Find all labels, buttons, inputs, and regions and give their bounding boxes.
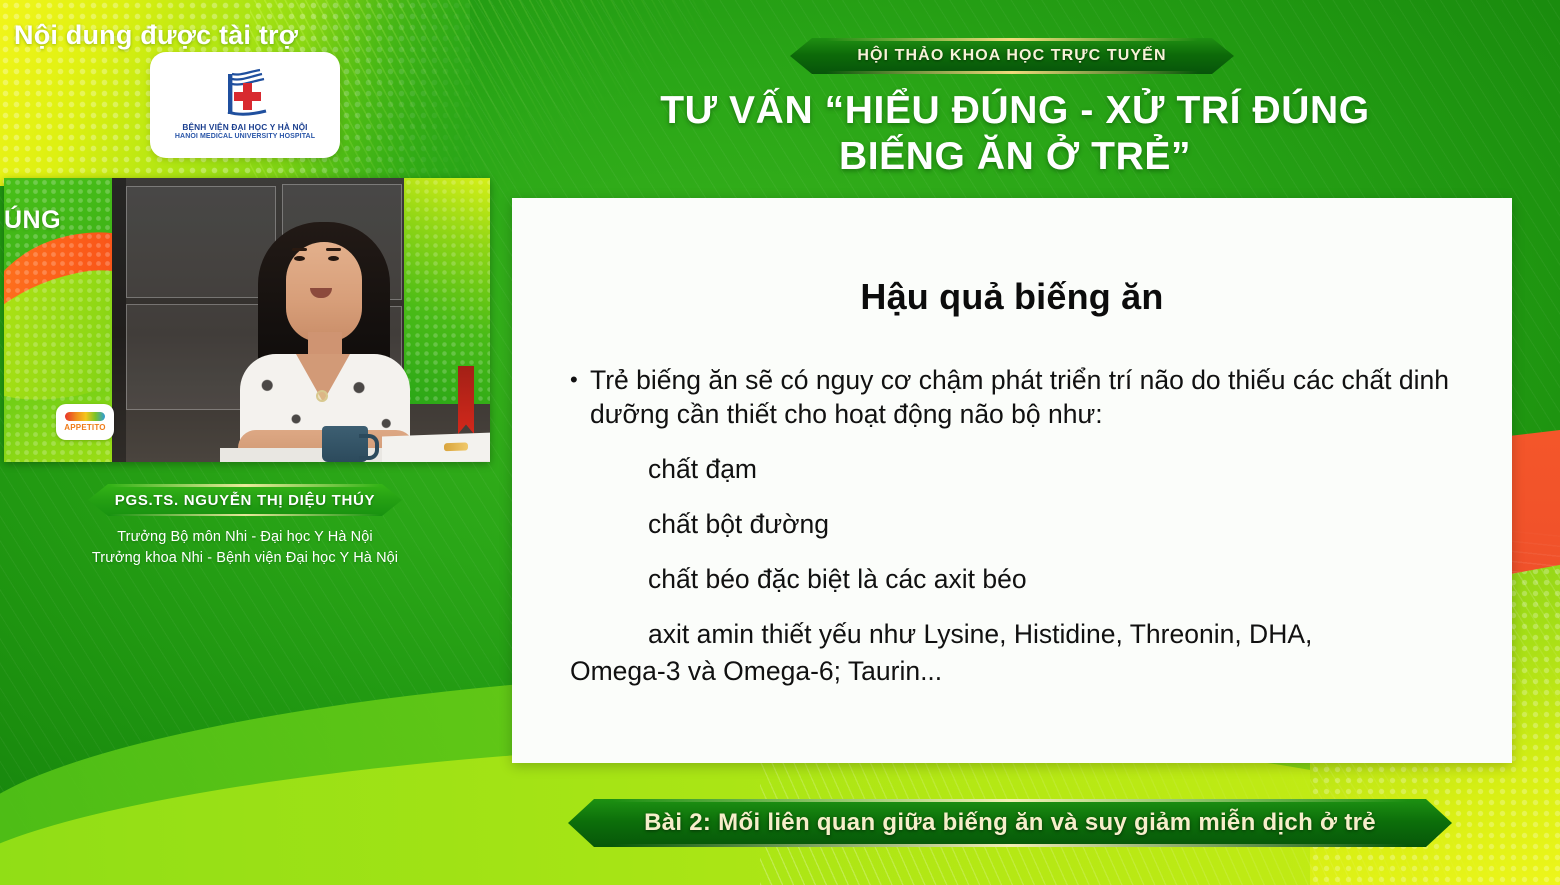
speaker-name: PGS.TS. NGUYỄN THỊ DIỆU THÚY <box>115 492 375 509</box>
name-badge-glow-bottom <box>110 514 380 517</box>
appetito-logo-badge: APPETITO <box>56 404 114 440</box>
lesson-banner: Bài 2: Mối liên quan giữa biếng ăn và su… <box>568 799 1452 847</box>
slide-sub-item: chất đạm <box>570 453 1454 487</box>
desk-paper <box>382 432 490 462</box>
sponsor-label: Nội dung được tài trợ <box>14 20 298 51</box>
page-title: TƯ VẤN “HIỂU ĐÚNG - XỬ TRÍ ĐÚNG BIẾNG ĂN… <box>600 88 1560 180</box>
slide-tail-line: Omega-3 và Omega-6; Taurin... <box>570 655 1454 689</box>
lesson-banner-glow-bottom <box>612 844 1408 847</box>
video-overlay-text: ÚNG <box>4 206 61 235</box>
slide-bullet: • Trẻ biếng ăn sẽ có nguy cơ chậm phát t… <box>570 364 1454 432</box>
speaker-video-panel[interactable]: ÚNG APPETITO <box>4 178 490 462</box>
hospital-logo-card: BỆNH VIỆN ĐẠI HỌC Y HÀ NỘI HANOI MEDICAL… <box>150 52 340 158</box>
webinar-badge: HỘI THẢO KHOA HỌC TRỰC TUYẾN <box>790 38 1234 74</box>
slide-sub-item: chất bột đường <box>570 508 1454 542</box>
red-flag-icon <box>458 366 474 434</box>
portrait-necklace <box>316 390 328 402</box>
badge-glow-top <box>826 38 1199 41</box>
open-book-with-red-cross-icon <box>210 68 280 120</box>
appetito-brand-label: APPETITO <box>64 423 105 432</box>
lesson-banner-label: Bài 2: Mối liên quan giữa biếng ăn và su… <box>644 809 1376 837</box>
video-scene <box>112 178 490 462</box>
appetito-rainbow-icon <box>65 412 105 421</box>
portrait-brow-left <box>292 248 307 251</box>
speaker-name-badge: PGS.TS. NGUYỄN THỊ DIỆU THÚY <box>88 484 402 516</box>
portrait-eye-left <box>294 256 305 261</box>
scene-rail <box>112 178 126 462</box>
webinar-badge-label: HỘI THẢO KHOA HỌC TRỰC TUYẾN <box>857 47 1166 65</box>
portrait-brow-right <box>326 248 341 251</box>
bullet-dot-icon: • <box>570 364 590 432</box>
slide-sub-item: axit amin thiết yếu như Lysine, Histidin… <box>570 618 1454 652</box>
speaker-role-line-1: Trưởng Bộ môn Nhi - Đại học Y Hà Nội <box>0 527 490 548</box>
name-badge-glow-top <box>110 484 380 487</box>
paper-seal <box>444 442 468 451</box>
slide-bullet-text: Trẻ biếng ăn sẽ có nguy cơ chậm phát tri… <box>590 364 1454 432</box>
page-title-line-1: TƯ VẤN “HIỂU ĐÚNG - XỬ TRÍ ĐÚNG <box>600 88 1430 134</box>
badge-glow-bottom <box>826 71 1199 74</box>
speaker-portrait <box>224 212 424 462</box>
hospital-name-en: HANOI MEDICAL UNIVERSITY HOSPITAL <box>175 133 315 142</box>
speaker-roles: Trưởng Bộ môn Nhi - Đại học Y Hà Nội Trư… <box>0 527 490 569</box>
slide-sub-item: chất béo đặc biệt là các axit béo <box>570 563 1454 597</box>
lesson-banner-glow-top <box>612 799 1408 802</box>
portrait-eye-right <box>328 256 339 261</box>
coffee-mug-icon <box>322 426 368 462</box>
presentation-slide: Hậu quả biếng ăn • Trẻ biếng ăn sẽ có ng… <box>512 198 1512 763</box>
hospital-name-vi: BỆNH VIỆN ĐẠI HỌC Y HÀ NỘI <box>182 122 307 132</box>
page-title-line-2: BIẾNG ĂN Ở TRẺ” <box>600 134 1430 180</box>
slide-title: Hậu quả biếng ăn <box>570 276 1454 318</box>
slide-body: • Trẻ biếng ăn sẽ có nguy cơ chậm phát t… <box>570 364 1454 689</box>
speaker-role-line-2: Trưởng khoa Nhi - Bệnh viện Đại học Y Hà… <box>0 548 490 569</box>
